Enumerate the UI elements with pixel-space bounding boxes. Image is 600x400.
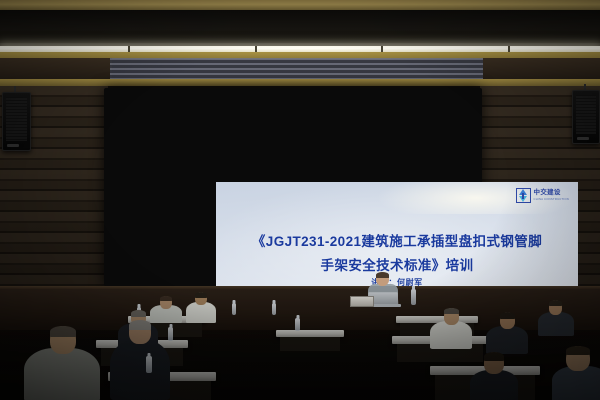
ceiling-air-grille	[110, 58, 485, 80]
water-bottle	[272, 303, 276, 315]
ceiling-panel-right	[483, 58, 600, 80]
presenter-desk-edge	[0, 286, 600, 289]
slide-title: 《JGJT231-2021建筑施工承插型盘扣式钢管脚 手架安全技术标准》培训	[216, 230, 578, 277]
attendee-foreground-left2	[110, 320, 170, 400]
projection-screen-bezel: 中交建设 CHINA CONSTRUCTION 《JGJT231-2021建筑施…	[104, 88, 482, 286]
speaker-badge	[577, 137, 589, 140]
ceiling-recess	[0, 10, 600, 43]
attendee-row2-right3	[538, 300, 574, 334]
attendee-row2-right	[430, 308, 472, 346]
water-bottle	[295, 318, 300, 331]
speaker-grille	[576, 95, 596, 134]
attendee-far-mid	[186, 292, 216, 322]
wall-speaker-left	[2, 92, 31, 151]
desk-row2-center	[276, 330, 344, 337]
speaker-grille	[6, 97, 27, 141]
water-bottle	[146, 356, 152, 373]
logo-english-text: CHINA CONSTRUCTION	[534, 198, 569, 201]
desk-row2-center-frame	[280, 337, 340, 351]
presenter-hair	[376, 272, 389, 278]
speaker-badge	[7, 144, 19, 147]
photo-scene: 中交建设 CHINA CONSTRUCTION 《JGJT231-2021建筑施…	[0, 0, 600, 400]
attendee-foreground-right2	[470, 352, 518, 400]
slide-logo: 中交建设 CHINA CONSTRUCTION	[516, 188, 569, 203]
china-construction-logo-icon	[516, 188, 531, 203]
ceiling-panel-left	[0, 58, 112, 80]
attendee-row2-right2	[486, 312, 528, 352]
presenter-water-bottle	[411, 289, 416, 305]
water-bottle	[232, 303, 236, 315]
ceiling-wood-band-bottom	[0, 79, 600, 86]
slide-title-line-1: 《JGJT231-2021建筑施工承插型盘扣式钢管脚	[216, 230, 578, 254]
presenter-name-placard	[350, 296, 374, 307]
attendee-foreground-right	[552, 346, 600, 400]
attendee-foreground-left	[24, 326, 100, 400]
ceiling-wood-band-top	[0, 0, 600, 10]
ceiling	[0, 0, 600, 86]
wall-speaker-right	[572, 90, 600, 144]
logo-chinese-text: 中交建设	[534, 190, 569, 197]
